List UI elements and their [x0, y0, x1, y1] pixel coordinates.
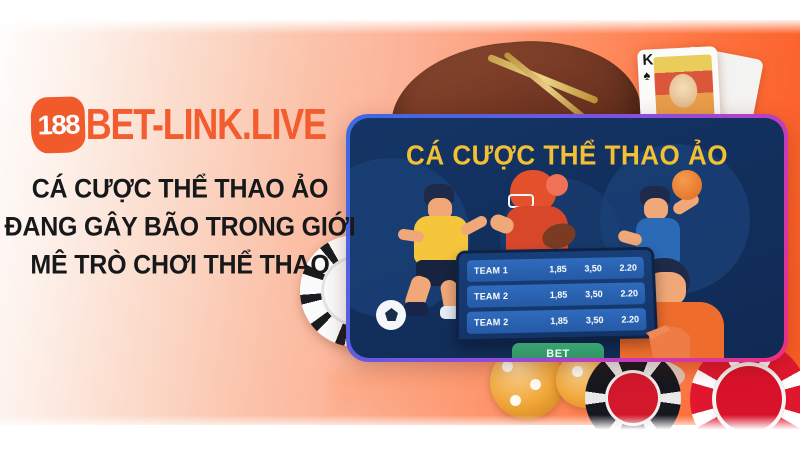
table-row[interactable]: TEAM 2 1,85 3,50 2.20 [467, 282, 645, 308]
brand-wordmark: BET-LINK.LIVE [85, 100, 325, 150]
odds-team-name: TEAM 2 [474, 317, 532, 328]
bet-button[interactable]: BET [512, 343, 604, 358]
odds-away[interactable]: 2.20 [603, 288, 639, 299]
odds-home[interactable]: 1,85 [532, 316, 568, 327]
promo-card-title: CÁ CƯỢC THỂ THAO ẢO [350, 139, 784, 172]
pointing-hand-icon [646, 306, 692, 358]
odds-away[interactable]: 2.20 [603, 314, 639, 325]
soccer-ball-icon [376, 300, 406, 330]
odds-draw[interactable]: 3,50 [567, 289, 603, 300]
odds-table[interactable]: TEAM 1 1,85 3,50 2.20 TEAM 2 1,85 3,50 2… [456, 247, 658, 343]
brand-logo[interactable]: 188 BET-LINK.LIVE [0, 95, 360, 155]
headline-line-1: CÁ CƯỢC THỂ THAO ẢO [0, 170, 360, 208]
brand-badge: 188 [30, 96, 85, 153]
odds-draw[interactable]: 3,50 [568, 315, 604, 326]
odds-home[interactable]: 1,85 [532, 264, 567, 275]
odds-team-name: TEAM 1 [474, 265, 532, 276]
promo-card-inner: CÁ CƯỢC THỂ THAO ẢO [350, 118, 784, 358]
headline-line-3: MÊ TRÒ CHƠI THỂ THAO [0, 246, 360, 284]
odds-away[interactable]: 2.20 [602, 263, 637, 274]
spade-icon: ♠ [643, 68, 651, 83]
promo-banner: K ♠ ♦ ♥ CÁ CƯỢC THỂ THAO ẢO [0, 0, 800, 450]
roulette-spinner-arm [487, 54, 599, 105]
table-row[interactable]: TEAM 2 1,85 3,50 2.20 [467, 308, 647, 334]
brand-badge-number: 188 [37, 109, 79, 141]
odds-team-name: TEAM 2 [474, 291, 532, 302]
promo-card[interactable]: CÁ CƯỢC THỂ THAO ẢO [346, 114, 788, 362]
page-title: CÁ CƯỢC THỂ THAO ẢO ĐANG GÂY BÃO TRONG G… [0, 170, 360, 284]
table-row[interactable]: TEAM 1 1,85 3,50 2.20 [467, 257, 644, 282]
basketball-icon [672, 170, 702, 200]
odds-draw[interactable]: 3,50 [567, 263, 602, 274]
poker-chip-dark [585, 350, 681, 446]
playing-card-rank: K [642, 51, 654, 69]
left-content-column: 188 BET-LINK.LIVE CÁ CƯỢC THỂ THAO ẢO ĐA… [0, 95, 360, 281]
odds-home[interactable]: 1,85 [532, 290, 568, 301]
headline-line-2: ĐANG GÂY BÃO TRONG GIỚI [0, 208, 360, 246]
